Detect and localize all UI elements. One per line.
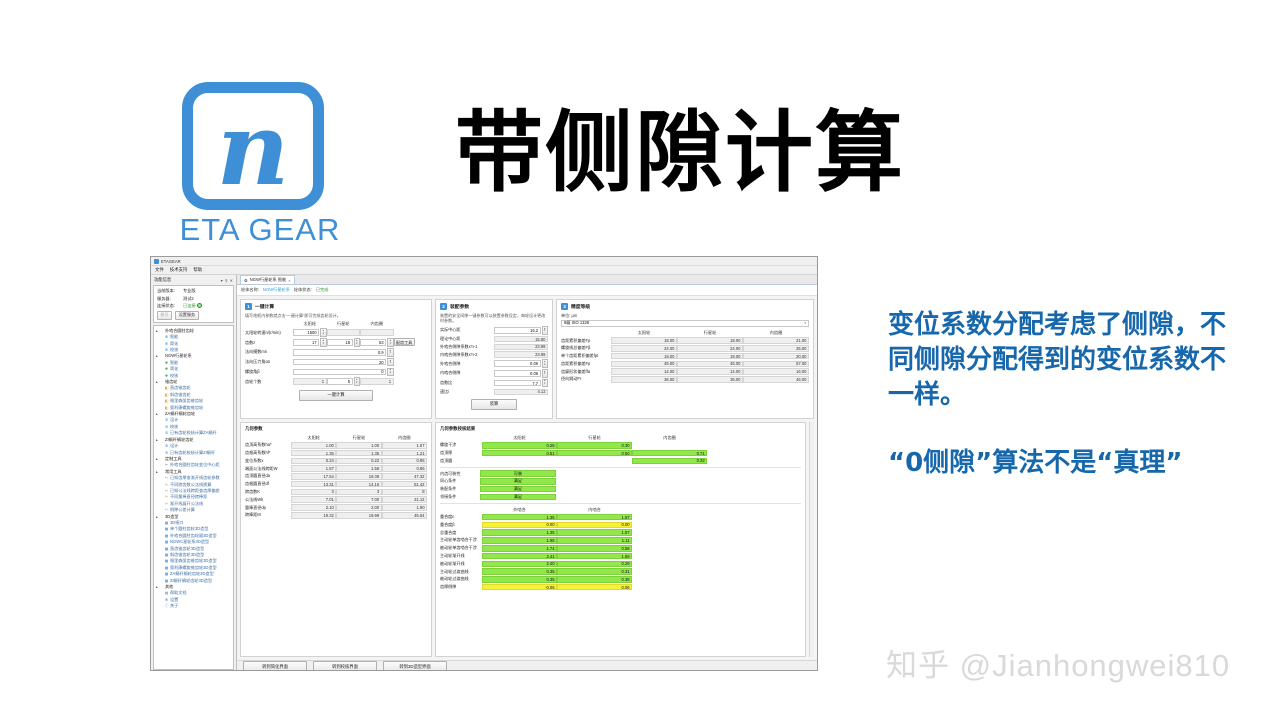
check-r0-c0: 0.25 [482,442,557,449]
table-row: 螺旋角β0▴▾ [245,367,427,377]
table-row: 单个齿距累积偏差fpt19.0019.0020.00 [561,352,809,360]
row-label: 齿厚侧隙 [440,583,482,591]
row-label: 齿顶圆直径da [245,473,291,481]
status-dot-icon [197,303,202,308]
panel5-bottom-table: 外啮合内啮合重合度ε1.351.57重合度β0.000.00总重合度1.351.… [440,506,707,591]
check-r2-c1 [557,458,632,465]
panel-geometry-check-results: 几何参数校核结果 太阳轮行星轮内齿圈螺旋干涉0.250.30齿顶厚0.510.5… [435,422,806,657]
one-key-calculate-button[interactable]: 一键计算 [299,390,373,401]
table-row: 公法线Wk7.017.0021.12 [245,496,427,504]
input-4[interactable]: 0 [293,369,386,376]
check-r1-c1: 0.50 [557,450,632,457]
row-label: 主动轮过渡曲线 [440,568,482,576]
accuracy-r2-c2: 20.00 [743,353,809,360]
expand-arrow-icon[interactable]: ▲ [155,437,158,443]
connection-label: 连接状态: [157,303,183,309]
spinner-icon[interactable]: ▴▾ [387,348,393,357]
table-row: 主动轮过渡曲线0.350.31 [440,568,707,576]
input-r5-c1[interactable]: 5 [327,378,353,385]
input-r5-c0: 1 [293,378,327,385]
table-row: 邻接条件满足 [440,493,707,501]
tree-item-43[interactable]: ⓘ关于 [155,603,232,609]
geom-r0-c1: 1.00 [336,442,381,449]
geom-r3-c0: 1.57 [291,465,336,472]
row-label: 被动轮渐开线 [440,560,482,568]
accuracy-r5-c2: 46.00 [743,376,809,383]
mesh-r9-c0: -0.06 [482,584,557,591]
row-label: 径向跳动Fr [561,376,611,384]
panel5-top-table: 太阳轮行星轮内齿圈螺旋干涉0.250.30齿顶厚0.510.500.71齿顶圆0… [440,434,707,465]
table-row: 端面公法线跨距W1.571.560.86 [245,465,427,473]
mesh-r8-c1: 0.38 [557,576,632,583]
geom-r7-c2: 21.12 [382,496,427,503]
eta-gear-logo: n ETA GEAR [170,82,355,247]
accuracy-standard-select[interactable]: 9级 ISO 1328 ▾ [561,320,809,327]
expand-arrow-icon[interactable]: ▲ [155,411,158,417]
panel2-number: 2 [440,303,447,310]
geom-r1-c1: 1.35 [336,450,381,457]
row-label: 法向模数mn [245,347,293,357]
table-row: 被动轮过渡曲线0.350.38 [440,575,707,583]
input-r0-c1 [327,329,361,336]
geom-r2-c2: 0.85 [382,458,427,465]
row-label: 邻接条件 [440,493,480,501]
table-row: 齿顶圆0.32 [440,457,707,465]
check-r1-c0: 0.51 [482,450,557,457]
function-tree[interactable]: ▲外啮合圆柱齿轮✻智能✻简化✻校核▲NGW行星轮系✾智能✾简化✾校核▲锥齿轮◧直… [153,325,234,670]
logo-letter: n [193,99,313,199]
panel-geometry-parameters: 几何参数 太阳轮行星轮内齿圈齿顶高系数ha*1.001.001.07齿根高系数h… [240,422,432,657]
table-row: 齿顶圆直径da17.5418.3947.32 [245,473,427,481]
spinner-icon[interactable]: ▴▾ [542,379,548,388]
table-row: 齿顶厚0.510.500.71 [440,449,707,457]
info-icon: ⓘ [165,603,169,609]
mesh-r3-c0: 1.96 [482,537,557,544]
column-header-1: 行星轮 [336,434,381,441]
check-r0-c1: 0.30 [557,442,632,449]
panel5-check-table: 内齿可装性可装同心条件满足装配条件满足邻接条件满足 [440,470,707,501]
accuracy-r0-c1: 18.00 [677,337,743,344]
row-label: 齿廓形状偏差ffα [561,368,611,376]
mesh-r2-c1: 1.57 [557,529,632,536]
body-state-label: 轮体状态: [294,287,312,293]
tab-strip: ⚙ NGW行星轮系 智能 × [237,275,817,285]
column-header-0: 太阳轮 [291,434,336,441]
assembly-input-0[interactable]: 16.2 [494,327,541,334]
table-row: 法向模数mn0.9▴▾ [245,347,427,357]
row-label: 齿顶圆 [440,457,482,465]
disconnect-button[interactable]: 断开 [157,311,172,320]
accuracy-r3-c0: 45.00 [611,361,677,368]
version-value: 专业版 [183,288,196,294]
annotation-paragraph-2: “0侧隙”算法不是“真理” [888,446,1248,481]
expand-arrow-icon[interactable]: ▲ [155,379,158,385]
geom-r5-c2: 51.42 [382,481,427,488]
row-label: 装配条件 [440,485,480,493]
row-label: 齿距累积偏差Fp [561,360,611,368]
row-label: 齿数z [245,338,293,348]
row-label: 总重合度 [440,529,482,537]
condition-result-2: 满足 [480,486,556,493]
geom-r6-c0: 3 [291,489,336,496]
row-label: 螺旋角β [245,367,293,377]
panel3-number: 3 [561,303,568,310]
table-row: 变位系数x0.240.220.85 [245,457,427,465]
tree-item-label: 关于 [170,603,178,609]
table-row: 内啮合侧隙0.06▴▾ [440,368,548,378]
accuracy-r5-c0: 36.00 [611,376,677,383]
accuracy-r3-c1: 45.00 [677,361,743,368]
version-label: 当前版本: [157,288,183,294]
row-label: 太阳轮转速n/(r/min) [245,328,293,338]
column-header-1: 行星轮 [327,321,361,328]
row-label: 跨棒距M [245,511,291,519]
app-icon [154,259,159,264]
panel2-table: 实际中心距16.2▴▾理论中心距15.80外啮合侧隙系数x'n-123.99内啮… [440,326,548,396]
table-row: 内齿可装性可装 [440,470,707,478]
mesh-column-header-1: 内啮合 [557,506,632,513]
panel1-hint: 填写地框内参数就点击“一键计算”即可完成齿轮设计。 [245,313,427,318]
spinner-icon[interactable]: ▴▾ [387,368,393,377]
spinner-icon[interactable]: ▴▾ [387,358,393,367]
logo-wordmark: ETA GEAR [170,212,350,248]
mesh-r7-c1: 0.31 [557,568,632,575]
etagear-application-window: ETAGEAR 文件 技术支持 帮助 功能信息 ▾ ⚲ ✕ [150,256,818,671]
row-label: 齿距累积偏差Fp [561,337,611,345]
menu-item-help[interactable]: 帮助 [193,267,202,273]
planet-icon: ⚙ [244,278,248,283]
mesh-r0-c1: 1.57 [557,514,632,521]
expand-arrow-icon[interactable]: ▲ [155,328,158,334]
left-dock-panel: 功能信息 ▾ ⚲ ✕ 当前版本: 专业版 服务器: 测试2 [151,275,237,671]
row-label: 主动轮渐开线 [440,552,482,560]
goto-check-view-button[interactable]: 转到校核界面 [313,661,377,671]
geom-r5-c1: 14.16 [336,481,381,488]
panel1-number: 1 [245,303,252,310]
table-row: 主动轮渐开线2.411.59 [440,552,707,560]
accuracy-standard-value: 9级 ISO 1328 [564,320,589,326]
check-r1-c2: 0.71 [632,450,707,457]
expand-arrow-icon[interactable]: ▲ [155,514,158,520]
chevron-down-icon[interactable]: ▾ [221,278,223,283]
row-label: 被动轮过渡曲线 [440,575,482,583]
panel3-unit-label: 单位: μm [561,313,809,319]
row-label: 实际中心距 [440,326,494,336]
row-label: 被动轮单齿啮合干涉 [440,544,482,552]
panel2-hint: 装置的安全间隙一键参数可以装置参数设定，每轮设计更改时参数。 [440,313,548,323]
column-header-1: 行星轮 [557,434,632,441]
annotation-block: 变位系数分配考虑了侧隙，不同侧隙分配得到的变位系数不一样。 “0侧隙”算法不是“… [888,308,1248,481]
accuracy-r1-c2: 25.00 [743,345,809,352]
expand-arrow-icon[interactable]: ▲ [155,353,158,359]
accuracy-r4-c0: 14.00 [611,368,677,375]
tab-label: NGW行星轮系 智能 [250,277,287,283]
row-label: 齿顶高系数ha* [245,441,291,449]
condition-result-1: 满足 [480,478,556,485]
table-row: 量棒直径dp2.102.001.90 [245,504,427,512]
mesh-r6-c0: 2.40 [482,561,557,568]
row-label: 齿轮个数 [245,377,293,387]
geom-r7-c0: 7.01 [291,496,336,503]
row-label: 法向压力角αn [245,357,293,367]
condition-result-0: 可装 [480,470,556,477]
column-header-2: 内齿圈 [743,329,809,336]
geom-r8-c2: 1.90 [382,504,427,511]
panel4-title: 几何参数 [245,426,427,432]
mesh-r7-c0: 0.35 [482,568,557,575]
server-settings-button[interactable]: 设置服务 [175,311,198,320]
accuracy-r4-c1: 14.00 [677,368,743,375]
input-3[interactable]: 20 [293,359,386,366]
row-label: 端面公法线跨距W [245,465,291,473]
condition-result-3: 满足 [480,494,556,501]
table-row: 总重合度1.351.57 [440,529,707,537]
input-r1-c1[interactable]: 18 [327,339,353,346]
table-row: 跨棒距M19.3219.9945.64 [245,511,427,519]
table-row: 齿数z17▴▾18▴▾53▴▾配齿工具 [245,338,427,348]
expand-arrow-icon[interactable]: ▲ [155,456,158,462]
mesh-r4-c1: 0.58 [557,545,632,552]
info-row-connection: 连接状态: 已连接 [157,303,230,309]
chevron-down-icon: ▾ [804,321,806,325]
row-label: 外啮合侧隙系数x'n-1 [440,343,494,351]
table-row: 速比i4.12 [440,388,548,396]
divider [440,467,801,468]
window-titlebar: ETAGEAR [151,257,817,266]
info-row-server: 服务器: 测试2 [157,296,230,302]
spinner-icon[interactable]: ▴▾ [542,359,548,368]
table-row: 螺旋线总偏差Fβ24.0024.0025.00 [561,344,809,352]
goto-3d-view-button[interactable]: 转到3D造型界面 [383,661,447,671]
geom-r8-c0: 2.10 [291,504,336,511]
work-area: ⚙ NGW行星轮系 智能 × 轮体名称: NGW行星轮系 轮体状态: 已完成 [237,275,817,671]
assembly-input-7: 4.12 [494,389,548,396]
geom-r6-c1: 3 [336,489,381,496]
row-label: 跨齿数K [245,488,291,496]
geom-r9-c1: 19.99 [336,512,381,519]
table-row: 齿厚侧隙-0.060.06 [440,583,707,591]
table-row: 法向压力角αn20▴▾ [245,357,427,367]
body-name-value: NGW行星轮系 [263,287,290,293]
row-label: 主动轮单齿啮合干涉 [440,537,482,545]
logo-mark-icon: n [182,82,324,210]
geom-r0-c2: 1.07 [382,442,427,449]
geom-r5-c0: 13.31 [291,481,336,488]
dock-title: 功能信息 [154,277,171,283]
geom-r2-c0: 0.24 [291,458,336,465]
input-r1-c0[interactable]: 17 [293,339,319,346]
spinner-icon[interactable]: ▴▾ [542,369,548,378]
input-2[interactable]: 0.9 [293,349,386,356]
panel-assembly-parameters: 2 装配参数 装置的安全间隙一键参数可以装置参数设定，每轮设计更改时参数。 实际… [435,299,553,419]
table-row: 装配条件满足 [440,485,707,493]
panel-accuracy-grade: 3 精度等级 单位: μm 9级 ISO 1328 ▾ 太阳轮行星轮内齿圈齿距累… [556,299,814,419]
row-label: 变位系数x [245,457,291,465]
panel3-table: 太阳轮行星轮内齿圈齿距累积偏差Fp18.0018.0021.00螺旋线总偏差Fβ… [561,329,809,383]
input-r0-c2 [360,329,394,336]
row-label: 公法线Wk [245,496,291,504]
status-line: 轮体名称: NGW行星轮系 轮体状态: 已完成 [237,285,817,296]
row-label: 单个齿距累积偏差fpt [561,352,611,360]
body-state-value: 已完成 [316,287,329,293]
geom-r3-c1: 1.56 [336,465,381,472]
expand-arrow-icon[interactable]: ▲ [155,584,158,590]
assembly-input-3: 23.99 [494,351,548,358]
geom-r3-c2: 0.86 [382,465,427,472]
accuracy-r1-c0: 24.00 [611,345,677,352]
row-label: 齿顶厚 [440,449,482,457]
table-row: 齿轮个数15▴▾1 [245,377,427,387]
column-header-2: 内齿圈 [632,434,707,441]
window-title: ETAGEAR [161,259,181,264]
row-label: 齿根高系数hf* [245,449,291,457]
connection-info-box: 当前版本: 专业版 服务器: 测试2 连接状态: 已连接 断开 设置服务 [153,285,234,323]
geom-r9-c0: 19.32 [291,512,336,519]
spinner-icon[interactable]: ▴▾ [387,338,393,347]
geom-r8-c1: 2.00 [336,504,381,511]
table-row: 太阳轮转速n/(r/min)1500▴▾ [245,328,427,338]
input-r0-c0[interactable]: 1500 [293,329,319,336]
table-row: 齿数比7.7▴▾ [440,378,548,388]
panel4-table: 太阳轮行星轮内齿圈齿顶高系数ha*1.001.001.07齿根高系数hf*1.3… [245,434,427,519]
assembly-input-6[interactable]: 7.7 [494,380,541,387]
mesh-r6-c1: 0.29 [557,561,632,568]
panel1-table: 太阳轮行星轮内齿圈太阳轮转速n/(r/min)1500▴▾齿数z17▴▾18▴▾… [245,321,427,387]
check-r0-c2 [632,442,707,449]
assembly-input-2: 23.99 [494,344,548,351]
mesh-r1-c1: 0.00 [557,522,632,529]
tree-item-label: ZI蜗杆蜗轮齿轮3D造型 [170,578,212,584]
tab-close-icon[interactable]: × [288,278,290,283]
row-label: 外啮合侧隙 [440,359,494,369]
row-label: 速比i [440,388,494,396]
table-row: 螺旋干涉0.250.30 [440,441,707,449]
table-row: 主动轮单齿啮合干涉1.961.11 [440,537,707,545]
assembly-calculate-button[interactable]: 装算 [471,399,517,410]
mesh-column-header-0: 外啮合 [482,506,557,513]
column-header-0: 太阳轮 [293,321,327,328]
accuracy-r5-c1: 36.00 [677,376,743,383]
watermark: 知乎 @Jianhongwei810 [886,640,1230,685]
table-row: 外啮合侧隙系数x'n-123.99 [440,343,548,351]
assembly-input-4[interactable]: 0.06 [494,360,541,367]
gear-matching-tool-button[interactable]: 配齿工具 [394,338,415,347]
table-row: 齿根圆直径df13.3114.1651.42 [245,480,427,488]
menu-bar: 文件 技术支持 帮助 [151,266,817,275]
panel5-title: 几何参数校核结果 [440,426,801,432]
panel1-title: 一键计算 [255,303,274,310]
row-label: 齿根圆直径df [245,480,291,488]
slide-root: n ETA GEAR 带侧隙计算 变位系数分配考虑了侧隙，不同侧隙分配得到的变位… [0,0,1280,720]
check-r2-c2: 0.32 [632,458,707,465]
check-r2-c0 [482,458,557,465]
table-row: 实际中心距16.2▴▾ [440,326,548,336]
accuracy-r2-c1: 19.00 [677,353,743,360]
row-label: 内啮合侧隙 [440,368,494,378]
expand-arrow-icon[interactable]: ▲ [155,469,158,475]
table-row: 齿距累积偏差Fp18.0018.0021.00 [561,337,809,345]
geom-r9-c2: 45.64 [382,512,427,519]
mesh-r0-c0: 1.35 [482,514,557,521]
row-label: 重合度β [440,521,482,529]
geom-r7-c1: 7.00 [336,496,381,503]
form-canvas: 1 一键计算 填写地框内参数就点击“一键计算”即可完成齿轮设计。 太阳轮行星轮内… [237,296,817,660]
table-row: 齿根高系数hf*1.351.351.21 [245,449,427,457]
table-row: 内啮合侧隙系数x'n-223.99 [440,351,548,359]
geom-r1-c0: 1.35 [291,450,336,457]
server-value: 测试2 [183,296,194,302]
row-label: 理论中心距 [440,335,494,343]
accuracy-r1-c1: 24.00 [677,345,743,352]
mesh-r2-c0: 1.35 [482,529,557,536]
table-row: 齿顶高系数ha*1.001.001.07 [245,441,427,449]
row-label: 螺旋线总偏差Fβ [561,344,611,352]
tree-item-label: NGW行星轮系 [165,353,192,359]
table-row: 被动轮单齿啮合干涉1.740.58 [440,544,707,552]
table-row: 被动轮渐开线2.400.29 [440,560,707,568]
accuracy-r2-c0: 19.00 [611,353,677,360]
column-header-0: 太阳轮 [611,329,677,336]
table-row: 齿廓形状偏差ffα14.0014.0016.00 [561,368,809,376]
row-label: 齿数比 [440,378,494,388]
vertical-scrollbar[interactable] [809,422,814,657]
geom-r2-c1: 0.22 [336,458,381,465]
dock-header: 功能信息 ▾ ⚲ ✕ [152,276,235,285]
row-label: 内齿可装性 [440,470,480,478]
geom-r4-c1: 18.39 [336,473,381,480]
page-title: 带侧隙计算 [455,100,975,205]
table-row: 重合度ε1.351.57 [440,513,707,521]
close-icon[interactable]: ✕ [230,278,233,283]
table-row: 跨齿数K338 [245,488,427,496]
accuracy-r3-c2: 57.00 [743,361,809,368]
pin-icon[interactable]: ⚲ [225,278,228,283]
server-label: 服务器: [157,296,183,302]
table-row: 径向跳动Fr36.0036.0046.00 [561,376,809,384]
row-label: 内啮合侧隙系数x'n-2 [440,351,494,359]
table-row: 齿距累积偏差Fp45.0045.0057.00 [561,360,809,368]
panel2-title: 装配参数 [450,303,469,310]
divider [440,503,801,504]
panel3-title: 精度等级 [571,303,590,310]
input-r5-c2: 1 [360,378,394,385]
geom-r0-c0: 1.00 [291,442,336,449]
column-header-1: 行星轮 [677,329,743,336]
mesh-r3-c1: 1.11 [557,537,632,544]
window-body: 功能信息 ▾ ⚲ ✕ 当前版本: 专业版 服务器: 测试2 [151,275,817,671]
menu-item-file[interactable]: 文件 [155,267,164,273]
accuracy-r0-c0: 18.00 [611,337,677,344]
spinner-icon[interactable]: ▴▾ [542,326,548,335]
table-row: 同心条件满足 [440,478,707,486]
accuracy-r4-c2: 16.00 [743,368,809,375]
connection-value: 已连接 [183,303,196,309]
input-r1-c2[interactable]: 53 [360,339,386,346]
tab-ngw-planetary[interactable]: ⚙ NGW行星轮系 智能 × [240,275,295,284]
mesh-r5-c0: 2.41 [482,553,557,560]
row-label: 重合度ε [440,513,482,521]
mesh-r1-c0: 0.00 [482,522,557,529]
goto-simplified-view-button[interactable]: 转到简化界面 [243,661,307,671]
geom-r4-c0: 17.54 [291,473,336,480]
row-label: 螺旋干涉 [440,441,482,449]
assembly-input-5[interactable]: 0.06 [494,370,541,377]
menu-item-support[interactable]: 技术支持 [170,267,188,273]
column-header-0: 太阳轮 [482,434,557,441]
body-name-label: 轮体名称: [241,287,259,293]
bottom-button-bar: 转到简化界面 转到校核界面 转到3D造型界面 [237,660,817,671]
row-label: 同心条件 [440,478,480,486]
